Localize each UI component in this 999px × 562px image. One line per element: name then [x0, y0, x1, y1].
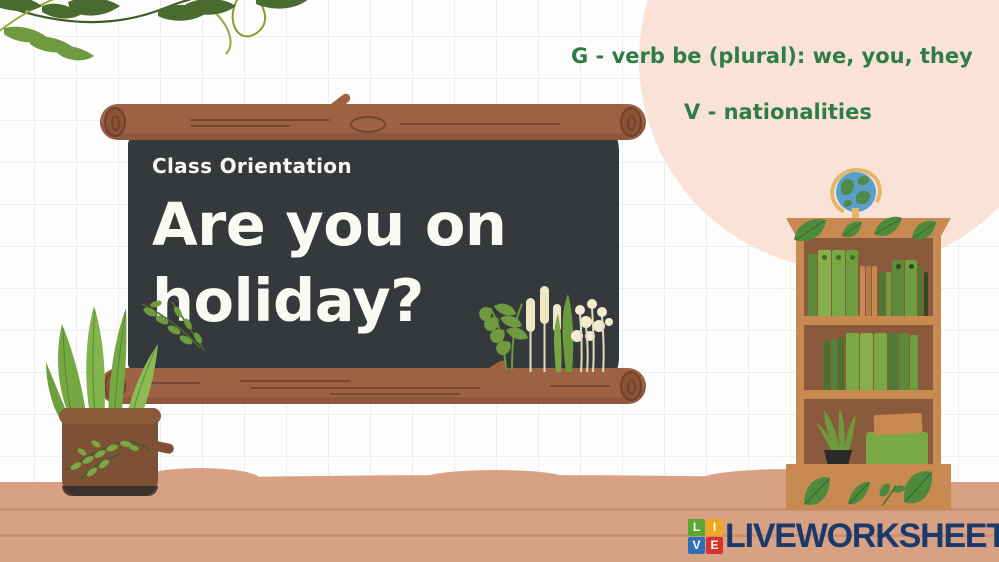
book: [808, 254, 817, 316]
book: [860, 266, 865, 316]
globe-sphere: [836, 172, 876, 212]
blackboard-top-rod: [100, 104, 646, 140]
logo-tile-v: V: [688, 537, 705, 554]
book: [824, 341, 830, 391]
shelf-divider: [804, 390, 933, 399]
vine-icon: [0, 0, 330, 70]
book: [866, 266, 871, 316]
book: [879, 272, 885, 316]
shelf-row-middle: [804, 325, 933, 391]
potted-plant: [40, 300, 190, 500]
shelf-frame: [796, 232, 941, 472]
pot-creeper-icon: [62, 408, 158, 488]
shelf-row-bottom: [804, 399, 933, 466]
wood-grain: [330, 393, 460, 395]
logo-tile-e: E: [706, 537, 723, 554]
book: [924, 272, 928, 316]
book: [818, 250, 831, 316]
header-vocab-line: V - nationalities: [684, 100, 872, 124]
leaves-on-shelf-icon: [786, 214, 951, 244]
board-kicker: Class Orientation: [152, 154, 572, 178]
logo-tile-i: I: [706, 519, 723, 536]
floor-bump: [420, 470, 570, 490]
logo-tiles: L I V E: [688, 519, 723, 554]
wood-grain: [400, 123, 560, 125]
book: [899, 333, 909, 391]
rod-cap-right: [620, 371, 642, 401]
book: [831, 339, 837, 391]
book: [905, 260, 917, 316]
cardboard-box: [874, 413, 923, 435]
book: [860, 333, 873, 391]
book: [832, 250, 845, 316]
blackboard: Class Orientation Are you on holiday?: [128, 104, 646, 400]
book: [846, 333, 859, 391]
book: [886, 272, 891, 316]
wood-knot: [350, 116, 386, 133]
book: [846, 250, 858, 316]
book: [888, 333, 898, 391]
green-box: [866, 432, 928, 466]
logo-tile-l: L: [688, 519, 705, 536]
book: [838, 337, 844, 391]
wood-grain: [190, 119, 330, 121]
cattail-plants-icon: [478, 264, 618, 372]
book: [918, 266, 922, 316]
liveworksheets-logo[interactable]: L I V E LIVEWORKSHEETS: [688, 516, 999, 556]
wood-grain: [250, 387, 480, 389]
slide-canvas: G - verb be (plural): we, you, they V - …: [0, 0, 999, 562]
header-grammar-line: G - verb be (plural): we, you, they: [571, 44, 973, 68]
book: [910, 335, 918, 391]
book: [892, 260, 904, 316]
book: [874, 333, 887, 391]
plant-pot: [62, 408, 158, 496]
rod-cap-left: [104, 107, 126, 137]
wood-grain: [190, 125, 290, 127]
shelf-row-top: [804, 238, 933, 316]
wood-grain: [240, 380, 350, 382]
wood-grain: [550, 385, 610, 387]
rod-cap-right: [620, 107, 642, 137]
leaves-on-base-icon: [792, 466, 952, 512]
shelf-divider: [804, 316, 933, 325]
potted-grass-icon: [814, 406, 862, 466]
logo-wordmark: LIVEWORKSHEETS: [725, 519, 999, 553]
book: [872, 266, 877, 316]
board-title-line-1: Are you on: [152, 196, 572, 254]
bookshelf: [786, 170, 951, 500]
